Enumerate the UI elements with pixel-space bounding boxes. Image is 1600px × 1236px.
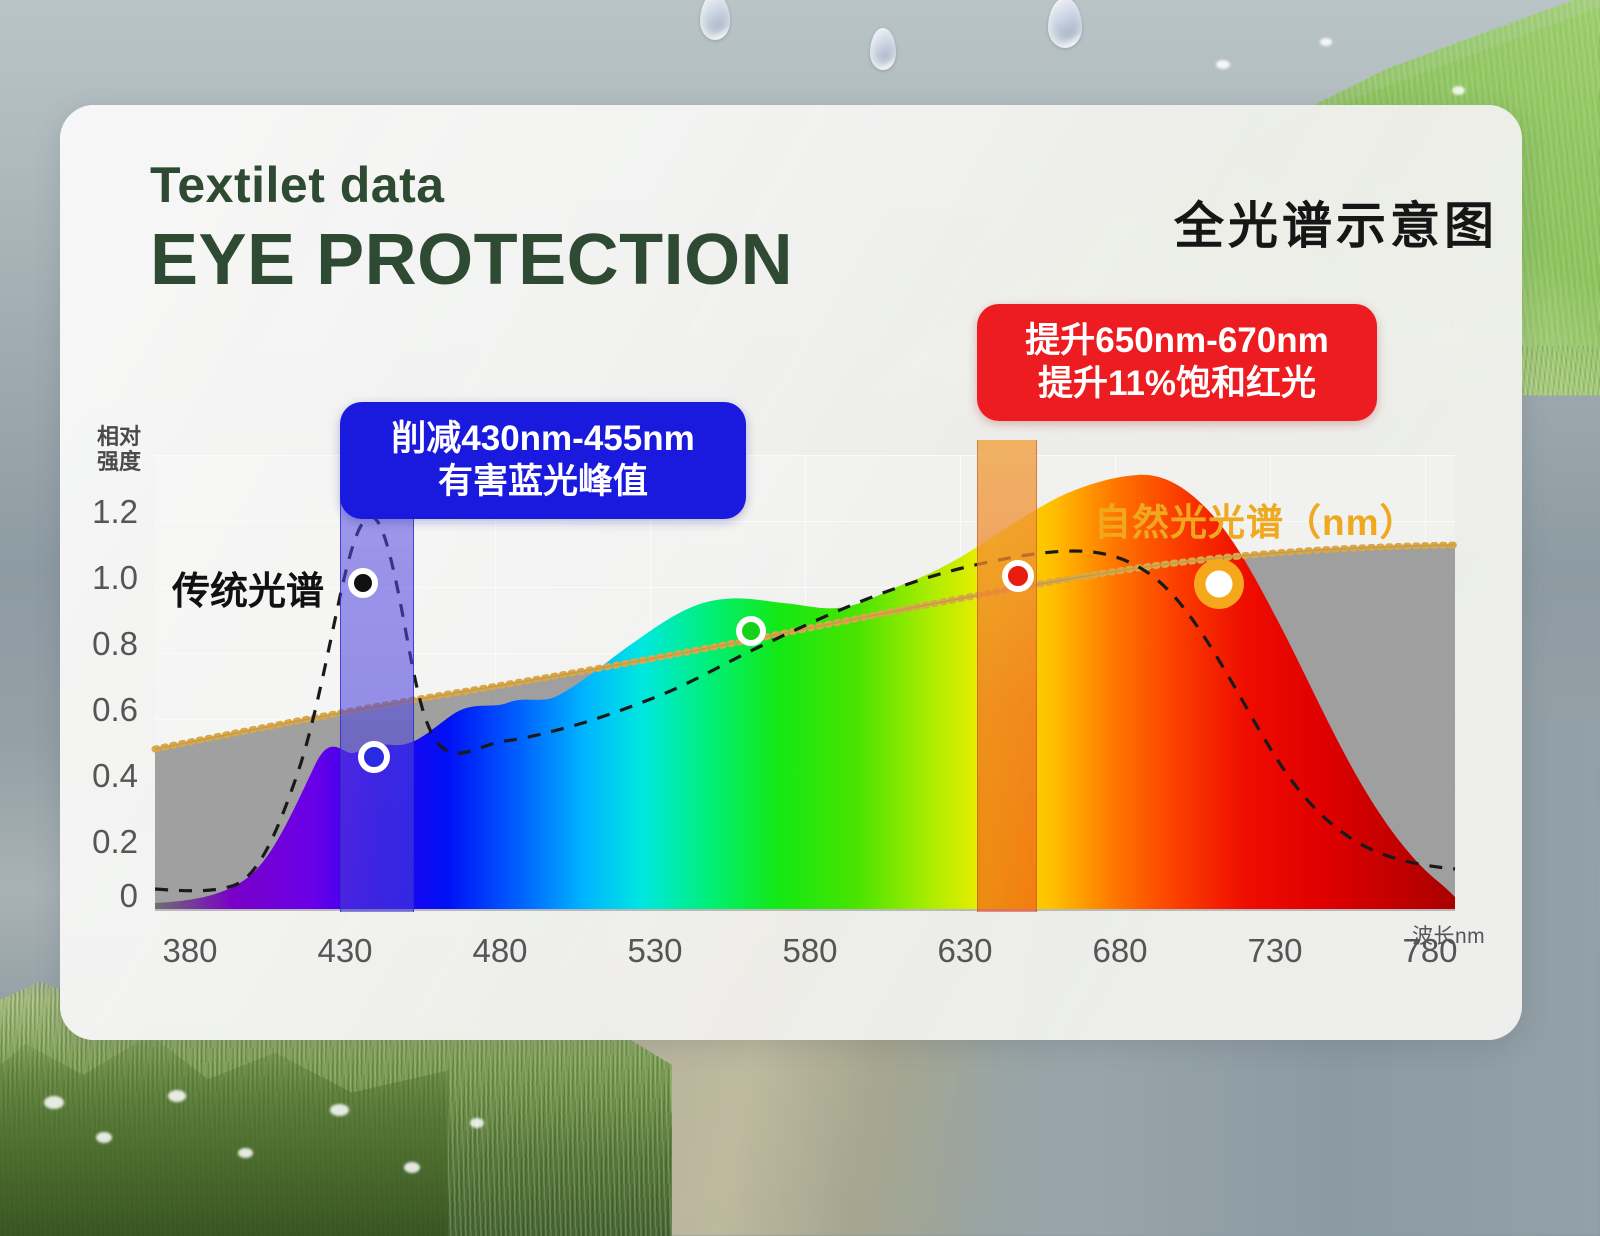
flower-speck	[330, 1104, 349, 1116]
x-tick-label: 580	[755, 932, 865, 970]
headings: Textilet data EYE PROTECTION	[150, 160, 793, 296]
marker-green-point	[736, 616, 766, 646]
flower-speck	[96, 1132, 112, 1143]
x-tick-label: 530	[600, 932, 710, 970]
x-tick-label: 380	[135, 932, 245, 970]
x-tick-label: 630	[910, 932, 1020, 970]
y-tick-label: 0.2	[68, 823, 138, 861]
chart-title-cn: 全光谱示意图	[1174, 186, 1498, 258]
page-title: EYE PROTECTION	[150, 224, 793, 296]
x-tick-label: 680	[1065, 932, 1175, 970]
page-subtitle: Textilet data	[150, 160, 793, 210]
callout-red-line2: 提升11%饱和红光	[1003, 363, 1351, 406]
y-tick-label: 0.6	[68, 691, 138, 729]
water-droplet	[1048, 0, 1082, 48]
y-tick-label: 0.8	[68, 625, 138, 663]
y-axis-unit-line2: 强度	[88, 450, 150, 475]
flower-speck	[238, 1148, 253, 1158]
flower-speck	[1320, 38, 1332, 46]
y-tick-label: 0.4	[68, 757, 138, 795]
callout-blue-reduction[interactable]: 削减430nm-455nm 有害蓝光峰值	[340, 402, 746, 519]
y-tick-label: 1.0	[68, 559, 138, 597]
flower-speck	[1216, 60, 1230, 69]
y-tick-label: 1.2	[68, 493, 138, 531]
water-droplet	[700, 0, 730, 40]
callout-red-boost[interactable]: 提升650nm-670nm 提升11%饱和红光	[977, 304, 1377, 421]
x-tick-label: 480	[445, 932, 555, 970]
y-axis-unit-line1: 相对	[88, 425, 150, 450]
legend-natural-label: 自然光光谱（nm）	[1094, 492, 1418, 546]
marker-reduced-blue-peak	[358, 741, 390, 773]
marker-traditional-blue-peak	[348, 568, 378, 598]
legend-traditional-label: 传统光谱	[172, 560, 324, 615]
red-boost-band	[977, 440, 1037, 912]
x-tick-label: 430	[290, 932, 400, 970]
y-tick-label: 0	[68, 877, 138, 915]
flower-speck	[470, 1118, 484, 1128]
x-tick-label: 730	[1220, 932, 1330, 970]
y-axis-unit-label: 相对 强度	[88, 425, 150, 474]
callout-red-line1: 提升650nm-670nm	[1003, 320, 1351, 363]
flower-speck	[168, 1090, 186, 1102]
x-axis-unit-label: 波长nm	[1412, 920, 1485, 950]
blue-harm-band	[340, 460, 414, 912]
marker-red-boost-peak	[1002, 560, 1034, 592]
callout-blue-line1: 削减430nm-455nm	[366, 418, 720, 461]
flower-speck	[1452, 86, 1465, 95]
flower-speck	[44, 1096, 64, 1109]
flower-speck	[404, 1162, 420, 1173]
callout-blue-line2: 有害蓝光峰值	[366, 461, 720, 504]
sun-icon	[1192, 557, 1246, 611]
water-droplet	[870, 28, 896, 70]
